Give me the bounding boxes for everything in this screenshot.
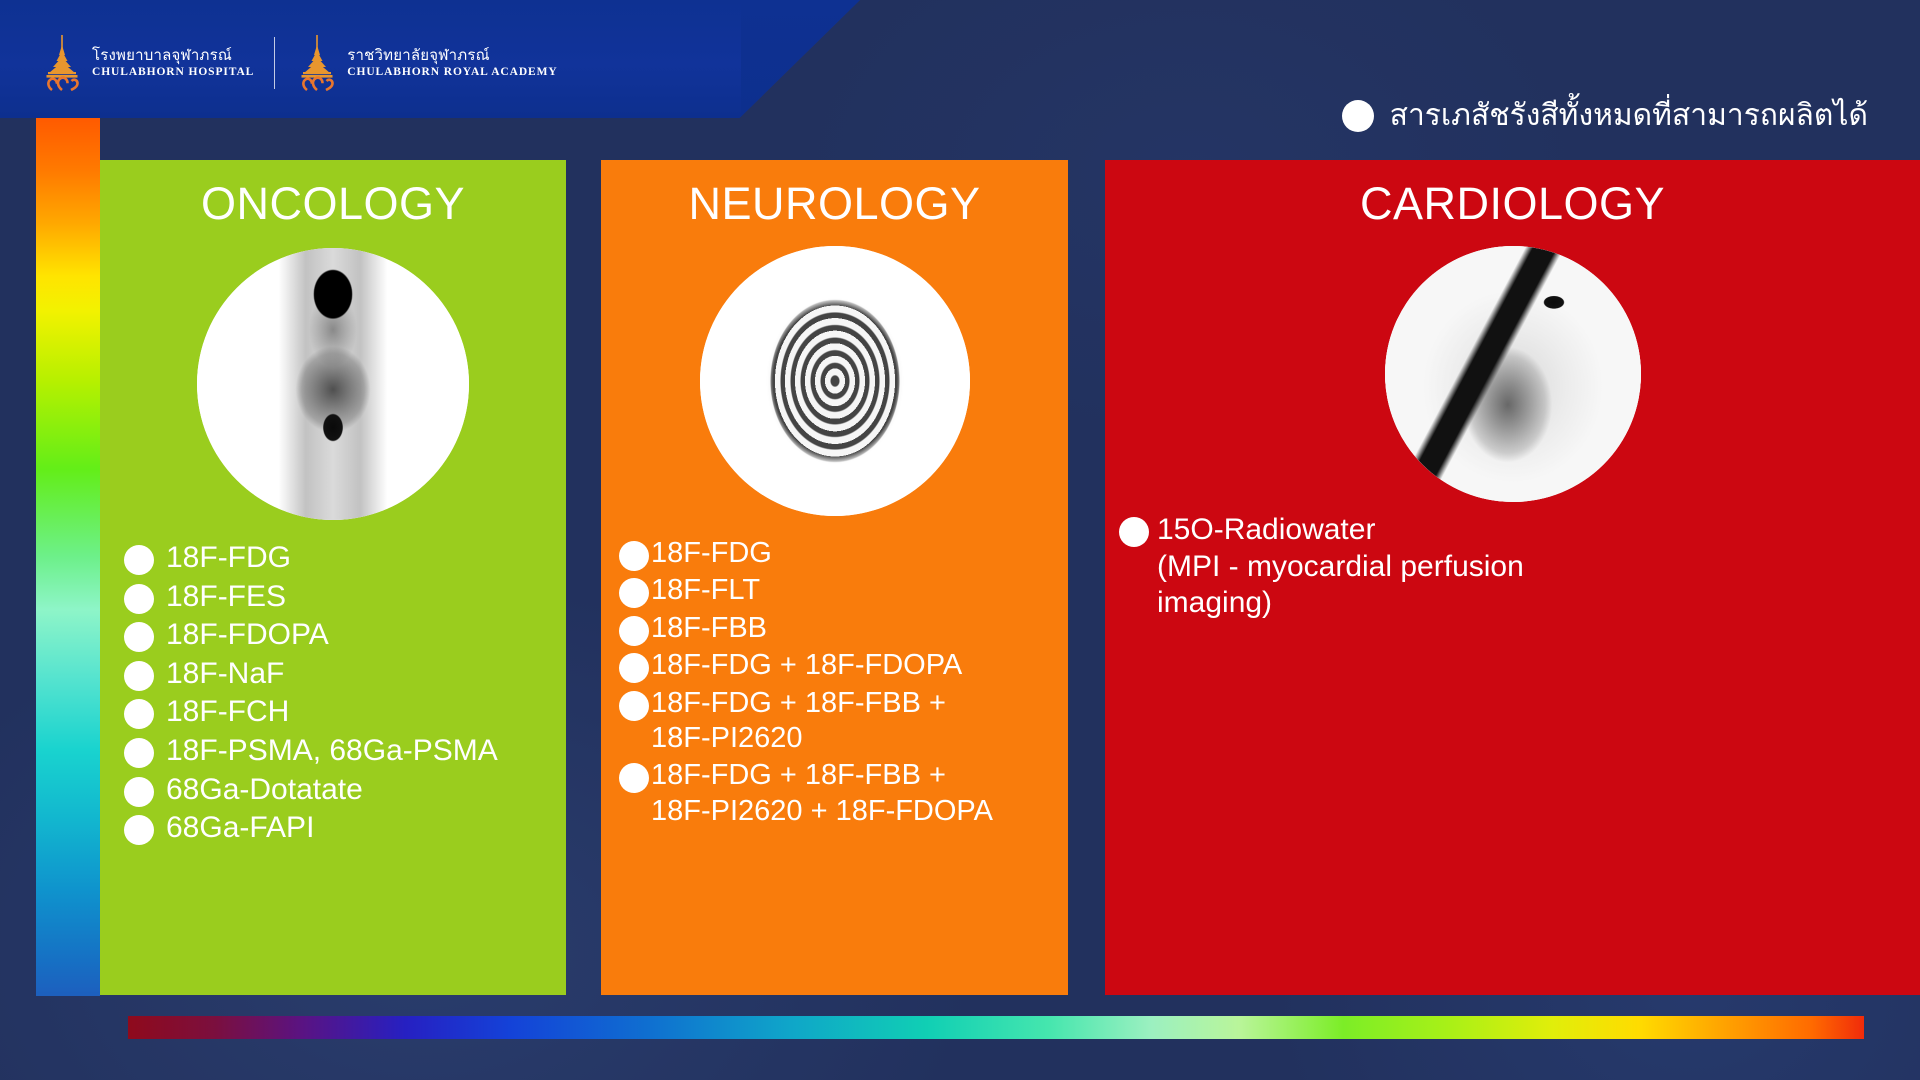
bullet-dot-icon [124,622,154,652]
slide-heading-text: สารเภสัชรังสีทั้งหมดที่สามารถผลิตได้ [1390,92,1868,139]
bullet-dot-icon [124,815,154,845]
bullet-dot-icon [124,699,154,729]
bullet-dot-icon [124,661,154,691]
logo2-english-name: CHULABHORN ROYAL ACADEMY [347,66,557,78]
panel-cardiology[interactable]: CARDIOLOGY 15O-Radiowater (MPI - myocard… [1105,160,1920,995]
list-item: 18F-FDG [118,540,556,577]
chulabhorn-crest-icon-2 [295,34,339,92]
chulabhorn-crest-icon [40,34,84,92]
panel-title-neurology: NEUROLOGY [601,178,1068,230]
list-item-label: 18F-FDG + 18F-FBB + 18F-PI2620 [651,686,946,757]
list-item: 15O-Radiowater (MPI - myocardial perfusi… [1119,512,1910,622]
bullet-dot-icon [619,763,649,793]
bullet-dot-icon [124,738,154,768]
list-item: 68Ga-Dotatate [118,772,556,809]
list-item-label: 68Ga-FAPI [166,810,314,847]
list-cardiology: 15O-Radiowater (MPI - myocardial perfusi… [1105,512,1920,995]
panel-title-cardiology: CARDIOLOGY [1105,178,1920,230]
cardiac-angiography-scan-image [1385,246,1641,502]
bullet-dot-icon [619,578,649,608]
bullet-dot-icon [124,584,154,614]
list-item-label: 18F-FDOPA [166,617,329,654]
logo-chulabhorn-royal-academy: ราชวิทยาลัยจุฬาภรณ์ CHULABHORN ROYAL ACA… [295,34,557,92]
list-item: 18F-NaF [118,656,556,693]
bottom-spectrum-bar [128,1016,1864,1039]
bullet-dot-icon [1119,517,1149,547]
panel-neurology[interactable]: NEUROLOGY 18F-FDG 18F-FLT 18F-FBB 18F-FD… [601,160,1068,995]
panels-container: ONCOLOGY 18F-FDG 18F-FES 18F-FDOPA 18F-N… [0,0,1920,1080]
bullet-dot-icon [124,777,154,807]
list-item: 18F-PSMA, 68Ga-PSMA [118,733,556,770]
panel-oncology[interactable]: ONCOLOGY 18F-FDG 18F-FES 18F-FDOPA 18F-N… [100,160,566,995]
list-item-label: 18F-FDG + 18F-FDOPA [651,648,962,683]
logo1-english-name: CHULABHORN HOSPITAL [92,66,254,78]
bullet-dot-icon [619,691,649,721]
list-item: 18F-FDG [619,536,1058,571]
list-item-label: 18F-FDG + 18F-FBB + 18F-PI2620 + 18F-FDO… [651,758,993,829]
list-item-label: 18F-FBB [651,611,767,646]
list-item: 18F-FLT [619,573,1058,608]
list-item-label: 18F-PSMA, 68Ga-PSMA [166,733,498,770]
list-item-label: 18F-FDG [651,536,772,571]
bullet-dot-icon [619,653,649,683]
list-item-label: 18F-FDG [166,540,291,577]
logo1-thai-name: โรงพยาบาลจุฬาภรณ์ [92,48,254,64]
bullet-dot-icon [619,541,649,571]
panel-title-oncology: ONCOLOGY [100,178,566,230]
left-spectrum-bar [36,118,100,996]
list-item: 18F-FDG + 18F-FDOPA [619,648,1058,683]
bullet-dot-icon [124,545,154,575]
list-oncology: 18F-FDG 18F-FES 18F-FDOPA 18F-NaF 18F-FC… [100,540,566,995]
pet-whole-body-scan-image [197,248,469,520]
list-item: 68Ga-FAPI [118,810,556,847]
list-item-label: 18F-FCH [166,694,289,731]
list-item-label: 18F-FES [166,579,286,616]
list-item: 18F-FDG + 18F-FBB + 18F-PI2620 [619,686,1058,757]
slide-heading: สารเภสัชรังสีทั้งหมดที่สามารถผลิตได้ [1342,92,1868,139]
list-item: 18F-FES [118,579,556,616]
brand-logos: โรงพยาบาลจุฬาภรณ์ CHULABHORN HOSPITAL [40,34,558,92]
list-item: 18F-FCH [118,694,556,731]
list-item-label: 15O-Radiowater (MPI - myocardial perfusi… [1157,512,1524,622]
logo-divider [274,37,275,89]
pet-brain-axial-scan-image [700,246,970,516]
logo2-thai-name: ราชวิทยาลัยจุฬาภรณ์ [347,48,557,64]
bullet-dot-icon [1342,100,1374,132]
list-item: 18F-FDG + 18F-FBB + 18F-PI2620 + 18F-FDO… [619,758,1058,829]
list-item-label: 68Ga-Dotatate [166,772,363,809]
list-item-label: 18F-NaF [166,656,284,693]
list-item: 18F-FBB [619,611,1058,646]
list-item-label: 18F-FLT [651,573,760,608]
bullet-dot-icon [619,616,649,646]
list-neurology: 18F-FDG 18F-FLT 18F-FBB 18F-FDG + 18F-FD… [601,536,1068,995]
list-item: 18F-FDOPA [118,617,556,654]
logo-chulabhorn-hospital: โรงพยาบาลจุฬาภรณ์ CHULABHORN HOSPITAL [40,34,254,92]
